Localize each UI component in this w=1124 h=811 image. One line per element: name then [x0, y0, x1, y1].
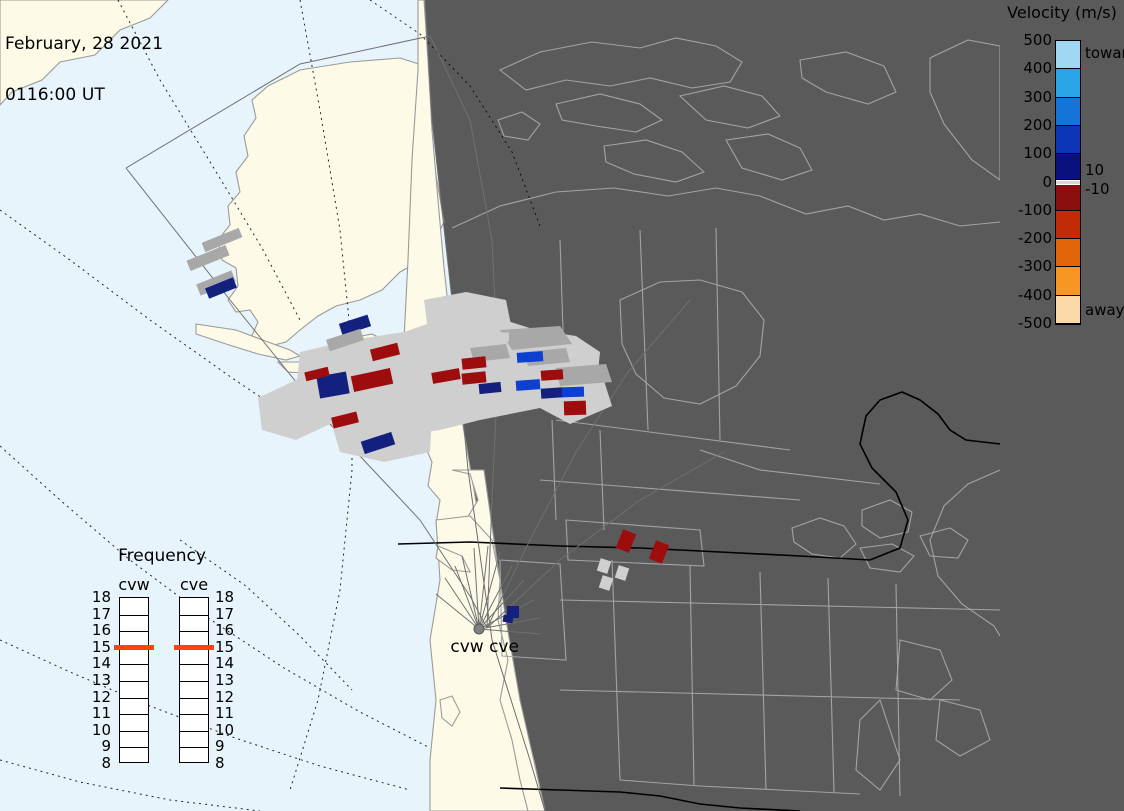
radar-label-cvw: cvw	[450, 637, 483, 657]
superdarn-velocity-map: cvw cve February, 28 2021 0116:00 UT Fre…	[0, 0, 1124, 811]
colorbar-tick-label: -300	[1012, 259, 1052, 274]
gauge-tick	[180, 664, 208, 665]
colorbar-tick-label: 500	[1012, 33, 1052, 48]
gauge-scale-label: 12	[91, 690, 111, 705]
frequency-gauge-name-cvw: cvw	[114, 575, 154, 594]
colorbar-segment	[1056, 267, 1080, 295]
frequency-marker-cvw	[114, 645, 154, 650]
gauge-scale-label: 11	[91, 706, 111, 721]
colorbar-segment	[1056, 41, 1080, 69]
colorbar-away-label: away	[1085, 303, 1124, 318]
gauge-tick	[120, 747, 148, 748]
gauge-tick	[120, 664, 148, 665]
frequency-title: Frequency	[86, 546, 238, 566]
colorbar-segment	[1056, 126, 1080, 154]
radar-station-dot	[474, 624, 484, 634]
frequency-gauge-cve[interactable]	[179, 597, 209, 763]
gauge-tick	[180, 615, 208, 616]
gauge-scale-label: 16	[91, 623, 111, 638]
gauge-scale-label: 17	[215, 607, 235, 622]
gauge-scale-label: 10	[91, 723, 111, 738]
gauge-tick	[180, 698, 208, 699]
gauge-scale-label: 13	[91, 673, 111, 688]
colorbar-tick-label: -500	[1012, 316, 1052, 331]
colorbar-segment	[1056, 69, 1080, 97]
gauge-tick	[180, 714, 208, 715]
colorbar-segment	[1056, 185, 1080, 210]
gauge-scale-label: 15	[215, 640, 235, 655]
gauge-scale-label: 11	[215, 706, 235, 721]
gauge-scale-label: 12	[215, 690, 235, 705]
gauge-scale-label: 8	[215, 756, 235, 771]
colorbar-tick-label: 100	[1012, 146, 1052, 161]
colorbar-tick-label: 200	[1012, 118, 1052, 133]
radar-label-cve: cve	[489, 637, 519, 657]
gauge-scale-label: 14	[91, 656, 111, 671]
gauge-scale-label: 14	[215, 656, 235, 671]
frequency-marker-cve	[174, 645, 214, 650]
frequency-panel: Frequency cvw18171615141312111098cve1817…	[86, 546, 238, 767]
gauge-scale-label: 18	[215, 590, 235, 605]
gauge-scale-label: 18	[91, 590, 111, 605]
gauge-tick	[120, 698, 148, 699]
gauge-scale-label: 8	[91, 756, 111, 771]
gauge-tick	[180, 631, 208, 632]
gauge-tick	[120, 681, 148, 682]
colorbar-toward-label: toward	[1085, 46, 1124, 61]
colorbar-segment	[1056, 296, 1080, 324]
colorbar-tick-label: 300	[1012, 90, 1052, 105]
frequency-gauge-cvw[interactable]	[119, 597, 149, 763]
gauge-scale-label: 9	[91, 739, 111, 754]
gauge-tick	[120, 631, 148, 632]
colorbar-tick-label: -400	[1012, 288, 1052, 303]
colorbar-segment	[1056, 239, 1080, 267]
colorbar-title: Velocity (m/s)	[1000, 3, 1124, 22]
colorbar-tick-label: -100	[1012, 203, 1052, 218]
gauge-tick	[180, 731, 208, 732]
colorbar-gradient	[1055, 40, 1081, 325]
map-panel[interactable]: cvw cve February, 28 2021 0116:00 UT Fre…	[0, 0, 1000, 811]
gauge-tick	[120, 714, 148, 715]
gauge-scale-label: 10	[215, 723, 235, 738]
frequency-gauges[interactable]: cvw18171615141312111098cve18171615141312…	[86, 567, 238, 767]
colorbar-neg-threshold-label: -10	[1085, 182, 1110, 197]
gauge-tick	[180, 747, 208, 748]
colorbar-tick-label: 400	[1012, 61, 1052, 76]
colorbar-segment	[1056, 154, 1080, 179]
gauge-tick	[120, 615, 148, 616]
gauge-scale-label: 9	[215, 739, 235, 754]
colorbar-segment	[1056, 211, 1080, 239]
gauge-scale-label: 16	[215, 623, 235, 638]
colorbar-segment	[1056, 98, 1080, 126]
gauge-tick	[120, 731, 148, 732]
gauge-tick	[180, 681, 208, 682]
frequency-gauge-name-cve: cve	[174, 575, 214, 594]
timestamp-date: February, 28 2021	[5, 36, 163, 53]
gauge-scale-label: 17	[91, 607, 111, 622]
colorbar-tick-label: -200	[1012, 231, 1052, 246]
gauge-scale-label: 13	[215, 673, 235, 688]
timestamp: February, 28 2021 0116:00 UT	[5, 2, 163, 138]
gauge-scale-label: 15	[91, 640, 111, 655]
velocity-colorbar: Velocity (m/s) 5004003002001000-100-200-…	[1000, 0, 1124, 811]
colorbar-tick-label: 0	[1012, 175, 1052, 190]
timestamp-time: 0116:00 UT	[5, 87, 163, 104]
colorbar-pos-threshold-label: 10	[1085, 163, 1104, 178]
